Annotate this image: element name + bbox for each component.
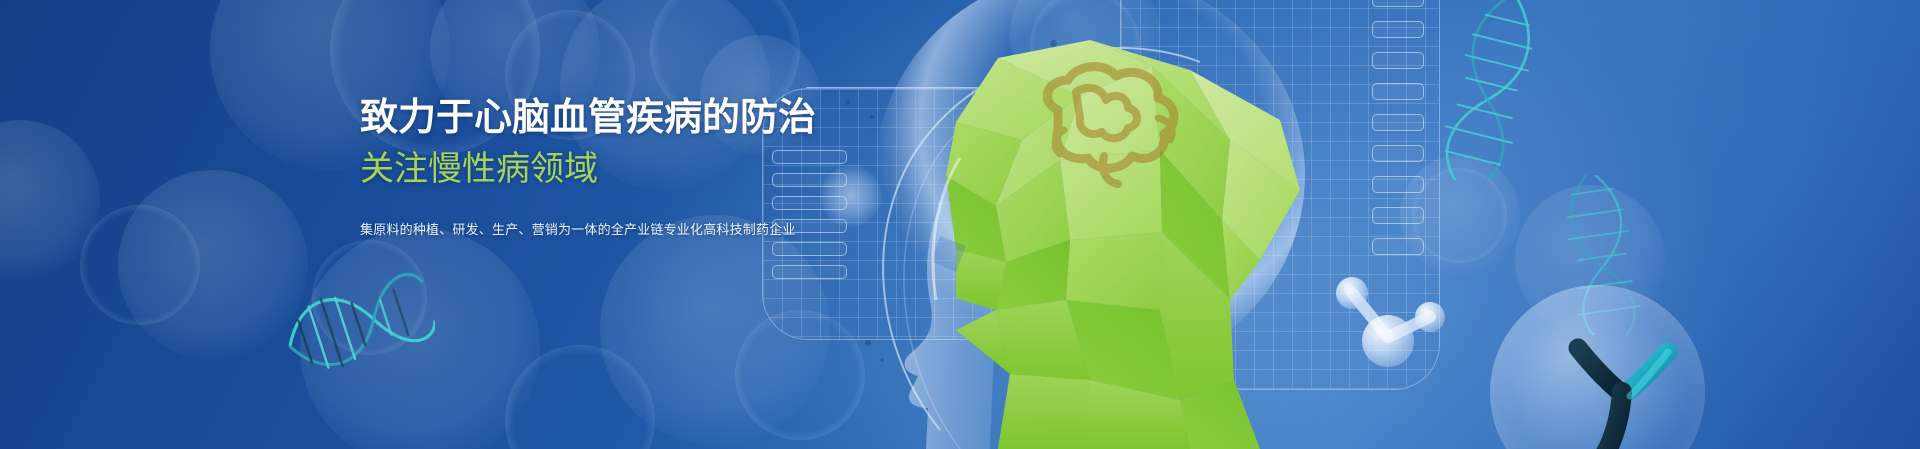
bokeh-circle: [505, 345, 655, 449]
banner-subline: 集原料的种植、研发、生产、营销为一体的全产业链专业化高科技制药企业: [360, 221, 790, 239]
bokeh-circle: [80, 205, 200, 325]
banner-headline-secondary: 关注慢性病领域: [360, 149, 790, 189]
dna-helix-left: [275, 265, 435, 375]
bokeh-circle: [300, 228, 540, 449]
hero-banner: 致力于心脑血管疾病的防治 关注慢性病领域 集原料的种植、研发、生产、营销为一体的…: [0, 0, 1920, 449]
polygonal-head-profile: [760, 0, 1460, 449]
antibody-bubble: [1490, 285, 1705, 449]
banner-headline-primary: 致力于心脑血管疾病的防治: [360, 96, 790, 140]
bokeh-circle: [312, 240, 427, 355]
bokeh-circle: [0, 120, 100, 280]
banner-copy: 致力于心脑血管疾病的防治 关注慢性病领域 集原料的种植、研发、生产、营销为一体的…: [360, 96, 790, 239]
bokeh-circle: [118, 170, 308, 360]
